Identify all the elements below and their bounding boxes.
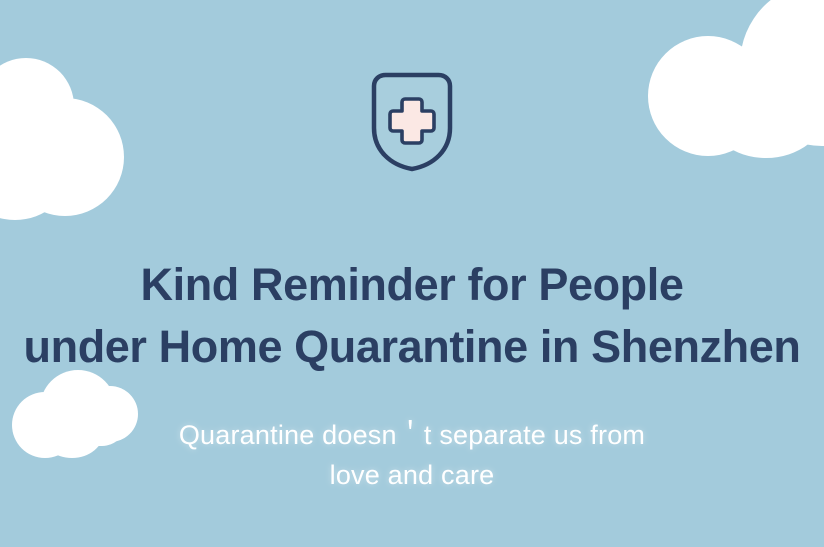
page-title: Kind Reminder for People under Home Quar… bbox=[0, 254, 824, 378]
page-subtitle-line-2: love and care bbox=[0, 455, 824, 495]
shield-medical-cross-icon bbox=[368, 70, 456, 174]
page-title-line-2: under Home Quarantine in Shenzhen bbox=[0, 316, 824, 378]
shield-icon-container bbox=[0, 70, 824, 174]
quarantine-reminder-poster: Kind Reminder for People under Home Quar… bbox=[0, 0, 824, 547]
page-subtitle: Quarantine doesn＇t separate us from love… bbox=[0, 415, 824, 495]
page-subtitle-line-1: Quarantine doesn＇t separate us from bbox=[0, 415, 824, 455]
page-title-line-1: Kind Reminder for People bbox=[0, 254, 824, 316]
